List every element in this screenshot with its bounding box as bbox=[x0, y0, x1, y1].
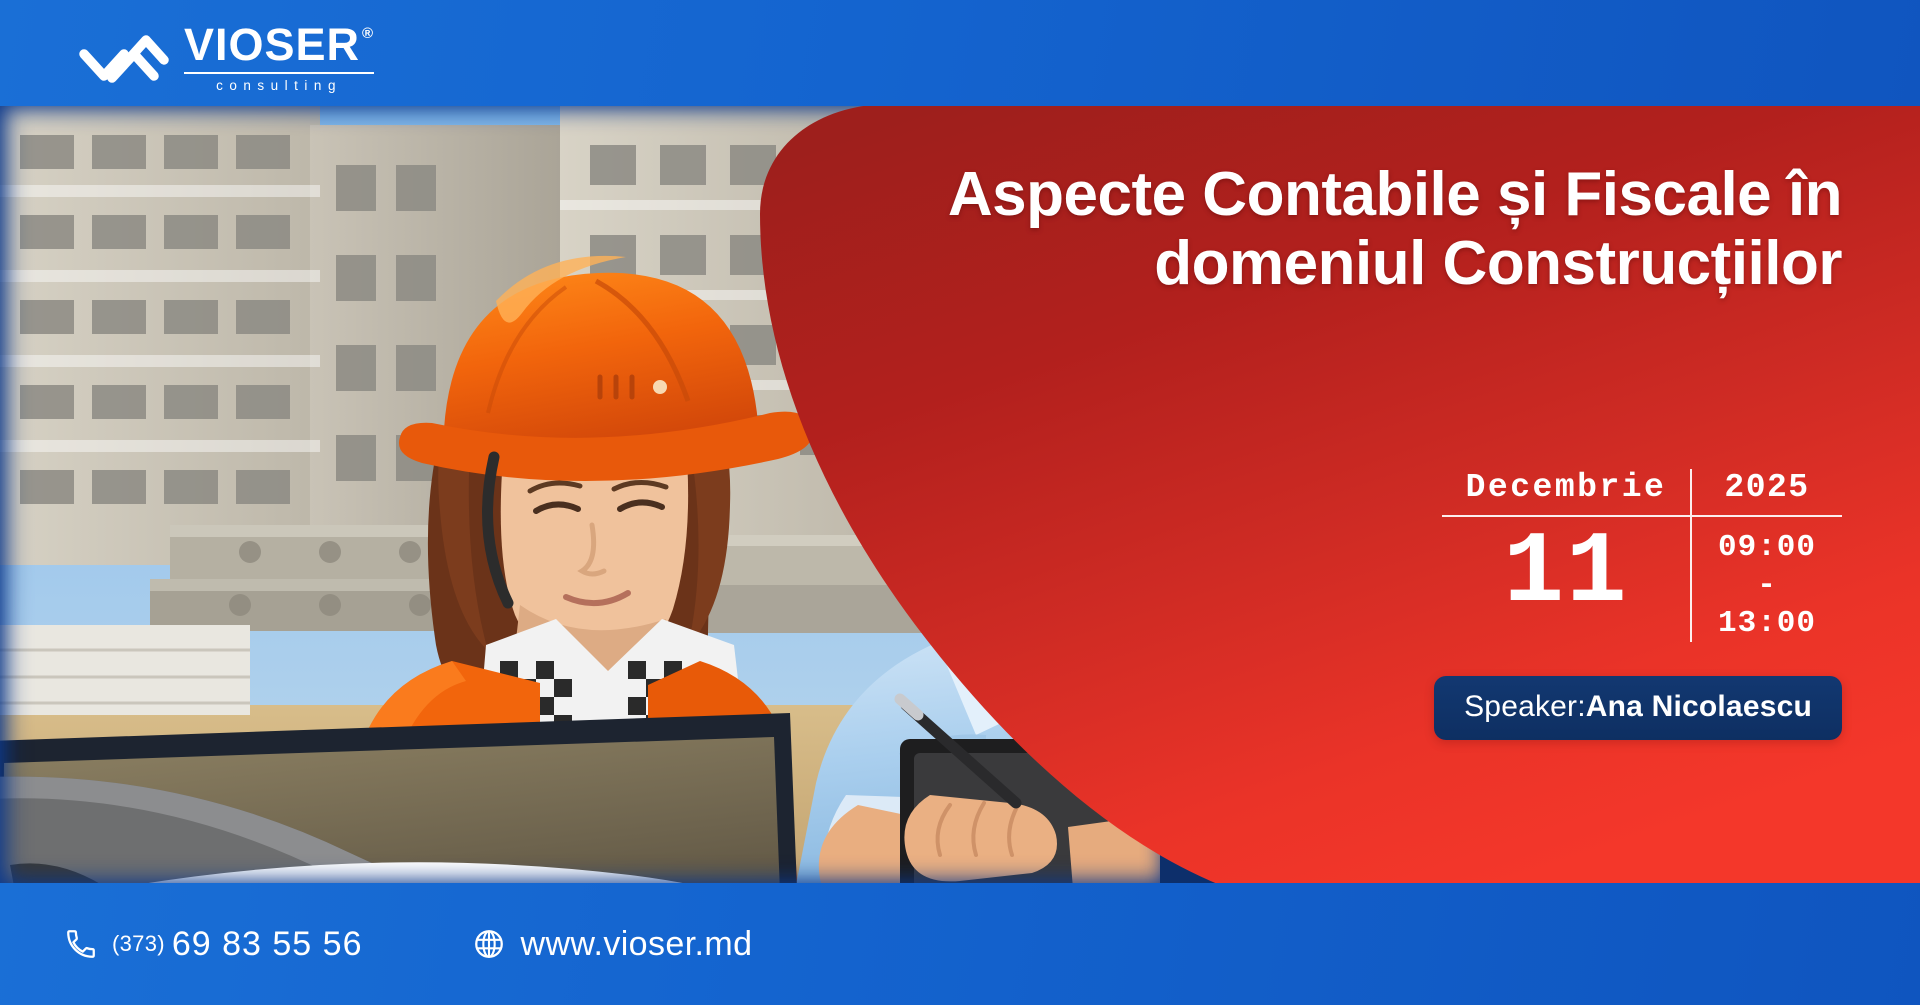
logo-tagline: consulting bbox=[184, 78, 374, 93]
phone-handset-icon bbox=[64, 927, 98, 961]
registered-trademark-icon: ® bbox=[362, 26, 374, 41]
globe-icon bbox=[472, 927, 506, 961]
vioser-chevron-logo-icon bbox=[78, 28, 170, 88]
footer-website[interactable]: www.vioser.md bbox=[472, 925, 752, 964]
phone-number: 69 83 55 56 bbox=[172, 925, 363, 964]
phone-country-code: (373) bbox=[112, 931, 165, 957]
footer-phone[interactable]: (373) 69 83 55 56 bbox=[64, 925, 362, 964]
event-time-start: 09:00 bbox=[1692, 529, 1842, 567]
event-month: Decembrie bbox=[1442, 469, 1690, 517]
event-time-range: 09:00 - 13:00 bbox=[1692, 517, 1842, 642]
vioser-wordmark: VIOSER ® consulting bbox=[184, 22, 374, 93]
speaker-badge: Speaker: Ana Nicolaescu bbox=[1434, 676, 1842, 740]
page-title: Aspecte Contabile și Fiscale în domeniul… bbox=[832, 160, 1842, 299]
red-panel-content: Aspecte Contabile și Fiscale în domeniul… bbox=[760, 104, 1920, 885]
event-day: 11 bbox=[1442, 517, 1690, 642]
logo-wordmark-text: VIOSER bbox=[184, 22, 360, 67]
event-banner: Aspecte Contabile și Fiscale în domeniul… bbox=[0, 0, 1920, 1005]
logo-divider bbox=[184, 72, 374, 74]
title-line-1: Aspecte Contabile și Fiscale în bbox=[832, 160, 1842, 229]
title-line-2: domeniul Construcțiilor bbox=[832, 229, 1842, 298]
speaker-name: Ana Nicolaescu bbox=[1586, 690, 1812, 724]
event-time-separator: - bbox=[1692, 567, 1842, 605]
website-url: www.vioser.md bbox=[520, 925, 752, 964]
footer-bar: (373) 69 83 55 56 www.vioser.md bbox=[0, 883, 1920, 1005]
speaker-label: Speaker: bbox=[1464, 690, 1586, 724]
event-time-end: 13:00 bbox=[1692, 605, 1842, 643]
header-bar: VIOSER ® consulting bbox=[0, 0, 1920, 106]
vioser-logo[interactable]: VIOSER ® consulting bbox=[78, 22, 374, 93]
event-date-block: Decembrie 2025 11 09:00 - 13:00 bbox=[1442, 469, 1842, 642]
event-year: 2025 bbox=[1692, 469, 1842, 517]
